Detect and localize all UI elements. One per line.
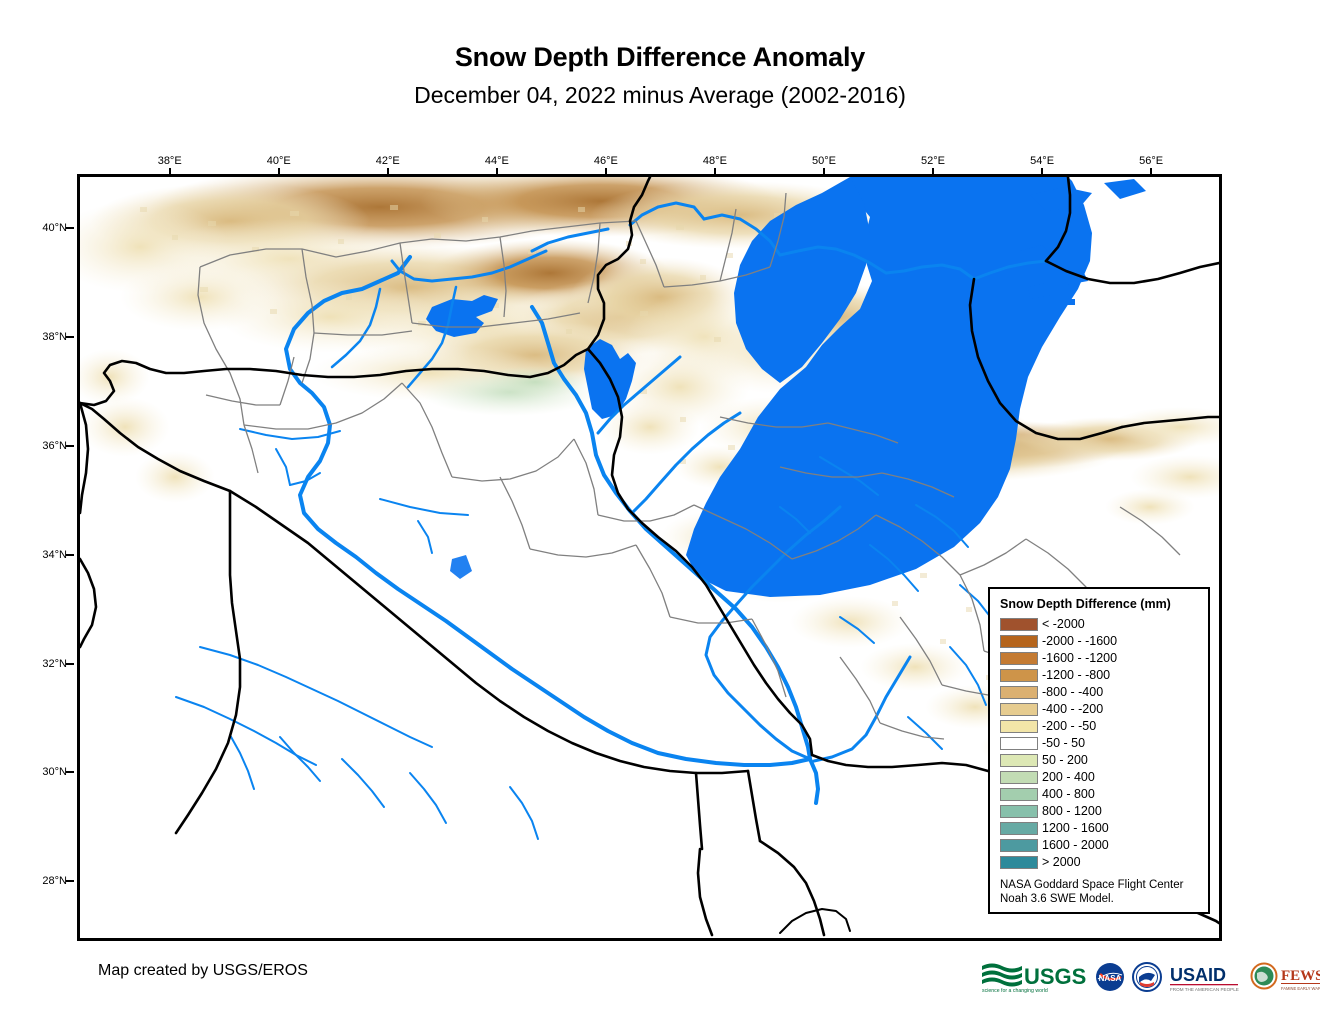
lat-tick-label: 30°N bbox=[42, 766, 67, 778]
lat-tick-label: 34°N bbox=[42, 549, 67, 561]
legend-label: 50 - 200 bbox=[1042, 754, 1088, 767]
map-credit: Map created by USGS/EROS bbox=[98, 962, 308, 980]
fewsnet-logo: FEWS NET FAMINE EARLY WARNING SYSTEMS NE… bbox=[1250, 961, 1320, 993]
legend-swatch bbox=[1000, 856, 1038, 869]
lat-tick-mark bbox=[66, 227, 74, 229]
lon-tick-label: 40°E bbox=[267, 155, 291, 167]
usaid-logo: USAID FROM THE AMERICAN PEOPLE bbox=[1169, 961, 1243, 993]
lat-tick-label: 36°N bbox=[42, 440, 67, 452]
legend-row: -1200 - -800 bbox=[1000, 667, 1200, 684]
legend-label: 1600 - 2000 bbox=[1042, 839, 1109, 852]
map-legend: Snow Depth Difference (mm) < -2000-2000 … bbox=[988, 587, 1210, 914]
legend-label: -1600 - -1200 bbox=[1042, 652, 1117, 665]
lat-tick-label: 40°N bbox=[42, 222, 67, 234]
legend-swatch bbox=[1000, 754, 1038, 767]
lat-tick-mark bbox=[66, 663, 74, 665]
legend-swatch bbox=[1000, 822, 1038, 835]
legend-row: -50 - 50 bbox=[1000, 735, 1200, 752]
legend-swatch bbox=[1000, 788, 1038, 801]
svg-text:FROM THE AMERICAN PEOPLE: FROM THE AMERICAN PEOPLE bbox=[1170, 987, 1239, 992]
lat-tick-label: 32°N bbox=[42, 658, 67, 670]
legend-label: -1200 - -800 bbox=[1042, 669, 1110, 682]
lat-tick-label: 38°N bbox=[42, 331, 67, 343]
legend-label: -50 - 50 bbox=[1042, 737, 1085, 750]
legend-class-list: < -2000-2000 - -1600-1600 - -1200-1200 -… bbox=[1000, 616, 1200, 871]
nasa-logo: NASA bbox=[1095, 962, 1125, 992]
lon-tick-label: 42°E bbox=[376, 155, 400, 167]
legend-row: -200 - -50 bbox=[1000, 718, 1200, 735]
legend-swatch bbox=[1000, 652, 1038, 665]
legend-swatch bbox=[1000, 839, 1038, 852]
legend-row: 1600 - 2000 bbox=[1000, 837, 1200, 854]
legend-swatch bbox=[1000, 720, 1038, 733]
svg-text:USAID: USAID bbox=[1170, 965, 1226, 985]
page-title: Snow Depth Difference Anomaly bbox=[0, 40, 1320, 74]
lon-tick-label: 56°E bbox=[1139, 155, 1163, 167]
legend-row: 800 - 1200 bbox=[1000, 803, 1200, 820]
lat-tick-mark bbox=[66, 445, 74, 447]
page-subtitle: December 04, 2022 minus Average (2002-20… bbox=[0, 80, 1320, 110]
legend-row: -1600 - -1200 bbox=[1000, 650, 1200, 667]
legend-row: -800 - -400 bbox=[1000, 684, 1200, 701]
svg-text:USGS: USGS bbox=[1024, 964, 1086, 989]
svg-text:NASA: NASA bbox=[1099, 974, 1122, 983]
legend-title: Snow Depth Difference (mm) bbox=[1000, 597, 1200, 611]
legend-swatch bbox=[1000, 669, 1038, 682]
legend-label: 1200 - 1600 bbox=[1042, 822, 1109, 835]
legend-row: > 2000 bbox=[1000, 854, 1200, 871]
legend-swatch bbox=[1000, 618, 1038, 631]
lon-tick-label: 44°E bbox=[485, 155, 509, 167]
lat-tick-mark bbox=[66, 771, 74, 773]
legend-label: -2000 - -1600 bbox=[1042, 635, 1117, 648]
legend-label: 800 - 1200 bbox=[1042, 805, 1102, 818]
legend-source-note: NASA Goddard Space Flight Center Noah 3.… bbox=[1000, 878, 1200, 906]
legend-label: > 2000 bbox=[1042, 856, 1081, 869]
legend-row: -400 - -200 bbox=[1000, 701, 1200, 718]
legend-row: 1200 - 1600 bbox=[1000, 820, 1200, 837]
legend-swatch bbox=[1000, 805, 1038, 818]
lon-tick-label: 54°E bbox=[1030, 155, 1054, 167]
lat-tick-mark bbox=[66, 880, 74, 882]
legend-swatch bbox=[1000, 703, 1038, 716]
legend-row: < -2000 bbox=[1000, 616, 1200, 633]
lat-tick-mark bbox=[66, 554, 74, 556]
legend-label: -200 - -50 bbox=[1042, 720, 1096, 733]
lon-tick-label: 50°E bbox=[812, 155, 836, 167]
legend-swatch bbox=[1000, 737, 1038, 750]
legend-row: 400 - 800 bbox=[1000, 786, 1200, 803]
legend-label: 400 - 800 bbox=[1042, 788, 1095, 801]
lat-tick-mark bbox=[66, 336, 74, 338]
legend-row: 200 - 400 bbox=[1000, 769, 1200, 786]
legend-swatch bbox=[1000, 686, 1038, 699]
legend-label: -400 - -200 bbox=[1042, 703, 1103, 716]
svg-text:science for a changing world: science for a changing world bbox=[982, 988, 1048, 994]
agency-logo-bar: USGS science for a changing world NASA U… bbox=[980, 958, 1320, 996]
legend-row: -2000 - -1600 bbox=[1000, 633, 1200, 650]
legend-swatch bbox=[1000, 635, 1038, 648]
legend-label: -800 - -400 bbox=[1042, 686, 1103, 699]
legend-label: 200 - 400 bbox=[1042, 771, 1095, 784]
noaa-logo bbox=[1132, 962, 1162, 992]
svg-text:FEWS NET: FEWS NET bbox=[1281, 968, 1320, 984]
svg-text:FAMINE EARLY WARNING SYSTEMS N: FAMINE EARLY WARNING SYSTEMS NETWORK bbox=[1281, 986, 1320, 991]
lon-tick-label: 48°E bbox=[703, 155, 727, 167]
lon-tick-label: 38°E bbox=[158, 155, 182, 167]
usgs-logo: USGS science for a changing world bbox=[980, 960, 1088, 994]
lat-tick-label: 28°N bbox=[42, 875, 67, 887]
lon-tick-label: 46°E bbox=[594, 155, 618, 167]
legend-label: < -2000 bbox=[1042, 618, 1085, 631]
title-block: Snow Depth Difference Anomaly December 0… bbox=[0, 40, 1320, 110]
legend-row: 50 - 200 bbox=[1000, 752, 1200, 769]
lon-tick-label: 52°E bbox=[921, 155, 945, 167]
legend-swatch bbox=[1000, 771, 1038, 784]
